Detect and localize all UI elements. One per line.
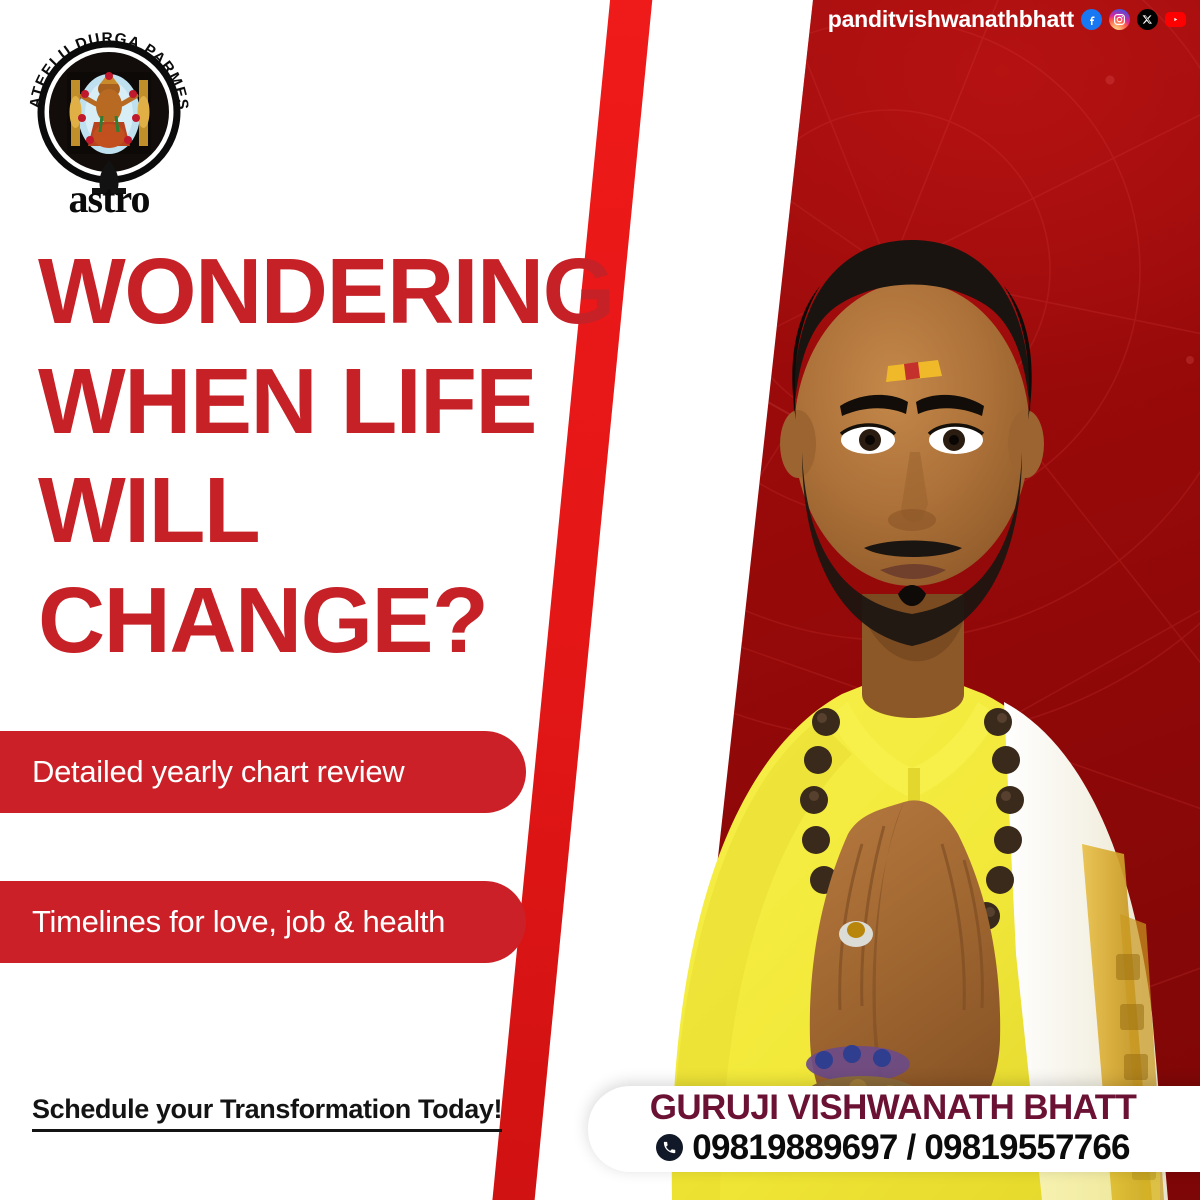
guru-name: GURUJI VISHWANATH BHATT <box>650 1090 1137 1126</box>
social-handle-bar: panditvishwanathbhatt <box>828 6 1186 33</box>
phone-row[interactable]: 09819889697 / 09819557766 <box>656 1128 1129 1168</box>
phone-numbers: 09819889697 / 09819557766 <box>692 1128 1129 1168</box>
facebook-icon[interactable] <box>1081 9 1102 30</box>
headline-line-1: WONDERING <box>38 246 658 338</box>
guru-portrait-photo <box>612 54 1200 1200</box>
cta-text[interactable]: Schedule your Transformation Today! <box>32 1094 502 1132</box>
headline-line-3: WILL <box>38 465 658 557</box>
benefit-pill-1: Detailed yearly chart review <box>0 731 526 813</box>
social-handle-text: panditvishwanathbhatt <box>828 6 1074 33</box>
instagram-icon[interactable] <box>1109 9 1130 30</box>
logo-wordmark: astro <box>69 176 150 217</box>
headline-line-2: WHEN LIFE <box>38 356 658 448</box>
brand-logo: SHRI KATEELU DURGA PARMESHWARI astro <box>22 12 197 217</box>
phone-icon <box>656 1134 683 1161</box>
page-title: WONDERING WHEN LIFE WILL CHANGE? <box>38 246 658 666</box>
headline-line-4: CHANGE? <box>38 575 658 667</box>
contact-card: GURUJI VISHWANATH BHATT 09819889697 / 09… <box>588 1086 1200 1172</box>
benefit-pill-2-label: Timelines for love, job & health <box>32 904 445 940</box>
youtube-icon[interactable] <box>1165 12 1186 27</box>
poster-canvas: panditvishwanathbhatt <box>0 0 1200 1200</box>
benefit-pill-2: Timelines for love, job & health <box>0 881 526 963</box>
benefit-pill-1-label: Detailed yearly chart review <box>32 754 404 790</box>
x-icon[interactable] <box>1137 9 1158 30</box>
cta-label: Schedule your Transformation Today! <box>32 1094 502 1132</box>
